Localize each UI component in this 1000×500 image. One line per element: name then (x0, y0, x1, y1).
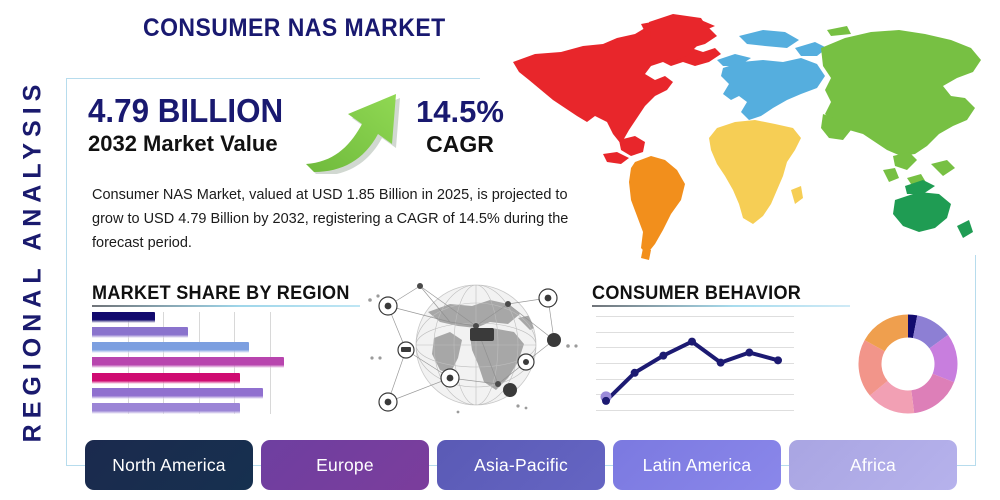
side-vertical-label: REGIONAL ANALYSIS (10, 60, 56, 460)
bar-chart-bar (92, 388, 263, 399)
donut-segment (875, 326, 908, 346)
donut-segment (870, 346, 879, 389)
line-chart-marker (717, 359, 725, 367)
donut-segment (939, 342, 946, 378)
side-vertical-label-text: REGIONAL ANALYSIS (19, 78, 48, 442)
line-chart-marker (688, 338, 696, 346)
market-share-bar-chart (92, 312, 284, 414)
region-button-label: Asia-Pacific (474, 455, 568, 476)
line-chart-marker (659, 352, 667, 360)
bar-chart-bar (92, 357, 284, 368)
world-map-icon (495, 4, 995, 266)
donut-segment (879, 388, 913, 402)
bar-chart-bar (92, 373, 240, 384)
region-button-north-america[interactable]: North America (85, 440, 253, 490)
global-network-globe-icon (358, 266, 588, 424)
bar-chart-bar (92, 342, 249, 353)
region-button-label: Europe (316, 455, 374, 476)
page-title: CONSUMER NAS MARKET (143, 14, 446, 43)
region-connector-5 (962, 465, 976, 466)
growth-arrow-icon (300, 84, 410, 174)
section-rule-consumer-behavior (592, 305, 850, 307)
region-donut-chart (855, 311, 961, 417)
bar-chart-bars (92, 312, 284, 414)
line-chart-marker (631, 369, 639, 377)
line-chart-marker (745, 349, 753, 357)
donut-chart-plot (855, 311, 961, 417)
region-button-latin-america[interactable]: Latin America (613, 440, 781, 490)
bar-chart-bar (92, 312, 155, 323)
donut-segment (908, 326, 915, 327)
region-button-europe[interactable]: Europe (261, 440, 429, 490)
region-button-asia-pacific[interactable]: Asia-Pacific (437, 440, 605, 490)
donut-segment (915, 327, 939, 342)
region-button-bar: North AmericaEuropeAsia-PacificLatin Ame… (85, 440, 957, 490)
region-button-label: North America (112, 455, 225, 476)
bar-chart-bar (92, 327, 188, 338)
region-button-label: Latin America (643, 455, 752, 476)
region-button-africa[interactable]: Africa (789, 440, 957, 490)
line-chart-marker (774, 356, 782, 364)
section-rule-market-share (92, 305, 360, 307)
section-header-market-share: MARKET SHARE BY REGION (92, 283, 350, 305)
bar-chart-bar (92, 403, 240, 414)
infographic-canvas: REGIONAL ANALYSIS CONSUMER NAS MARKET 4.… (0, 0, 1000, 500)
line-chart-plot (596, 312, 794, 414)
section-header-consumer-behavior: CONSUMER BEHAVIOR (592, 283, 801, 305)
consumer-behavior-line-chart (596, 312, 794, 414)
donut-segment (913, 378, 944, 402)
region-button-label: Africa (850, 455, 896, 476)
line-chart-marker (602, 397, 610, 405)
